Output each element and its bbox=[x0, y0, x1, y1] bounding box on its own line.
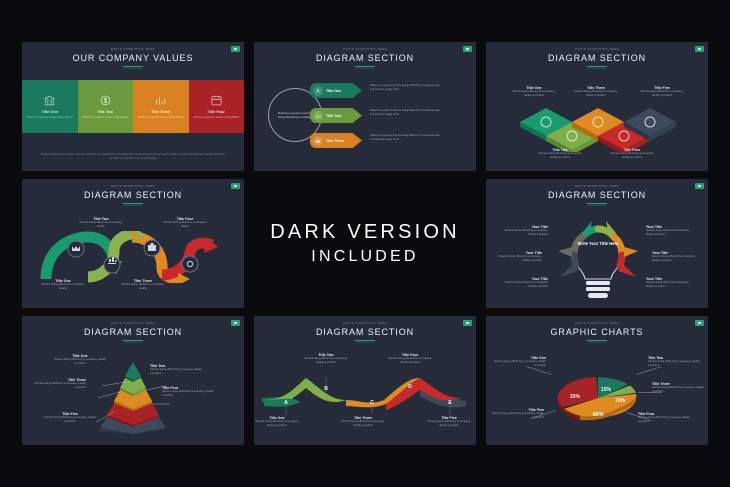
page-title: DIAGRAM SECTION bbox=[22, 328, 244, 337]
slide-kicker: WRITE SOMETHING HERE bbox=[486, 49, 708, 51]
pie-legend-item: Title One Service being offered by a com… bbox=[494, 356, 546, 368]
slide-subkicker: SUBHEADING bbox=[22, 342, 244, 344]
arrow-label: Title One bbox=[326, 89, 341, 93]
caption-line-2: INCLUDED bbox=[311, 248, 418, 266]
slide-subkicker: SUBHEADING bbox=[22, 205, 244, 207]
arrow-shape[interactable]: Title Three bbox=[310, 133, 362, 148]
slide-diagram-puzzle[interactable]: WRITE SOMETHING HERE DIAGRAM SECTION SUB… bbox=[486, 42, 708, 171]
pyramid-label: Title One Service being offered by a com… bbox=[54, 354, 106, 366]
pyramid-label: Title Three Service being offered by a c… bbox=[34, 378, 86, 390]
page-title: OUR COMPANY VALUES bbox=[22, 54, 244, 63]
slide-header: WRITE SOMETHING HERE DIAGRAM SECTION SUB… bbox=[254, 42, 476, 70]
pie-legend-item: Title Five Service being offered by a co… bbox=[492, 408, 544, 420]
scurve-label: Title Three Service being offered by a c… bbox=[120, 279, 166, 291]
pie-legend-item: Title Two Service being offered by a com… bbox=[648, 356, 700, 368]
slide-kicker: WRITE SOMETHING HERE bbox=[22, 323, 244, 325]
slide-header: WRITE SOMETHING HERE DIAGRAM SECTION SUB… bbox=[486, 42, 708, 70]
bulb-branch-label: Your Title Service being offered by a co… bbox=[492, 251, 542, 263]
slide-kicker: WRITE SOMETHING HERE bbox=[486, 323, 708, 325]
slide-diagram-zigzag[interactable]: WRITE SOMETHING HERE DIAGRAM SECTION SUB… bbox=[254, 316, 476, 445]
slide-kicker: WRITE SOMETHING HERE bbox=[22, 186, 244, 188]
slide-graphic-charts[interactable]: WRITE SOMETHING HERE GRAPHIC CHARTS SUBH… bbox=[486, 316, 708, 445]
slide-subkicker: SUBHEADING bbox=[486, 205, 708, 207]
zigzag-marker: A bbox=[284, 400, 288, 406]
slide-subkicker: SUBHEADING bbox=[254, 342, 476, 344]
pie-slice-value: 15% bbox=[615, 398, 626, 404]
concept-circle-text: Refers to a good or service being offere… bbox=[276, 111, 314, 120]
arrow-row[interactable]: Title Two bbox=[310, 107, 362, 124]
crown-icon bbox=[313, 136, 323, 146]
bulb-branch-label: Your Title Service being offered by a co… bbox=[498, 277, 548, 289]
value-card[interactable]: Title Three Refers to a good or service … bbox=[133, 80, 189, 133]
puzzle-label: Title One Service being offered by a com… bbox=[510, 86, 558, 98]
slide-subkicker: SUBHEADING bbox=[22, 68, 244, 70]
value-card-body: Refers to a good or service being offere… bbox=[83, 116, 128, 120]
slide-subkicker: SUBHEADING bbox=[486, 68, 708, 70]
puzzle-graphic bbox=[516, 100, 681, 152]
slide-diagram-scurve[interactable]: WRITE SOMETHING HERE DIAGRAM SECTION SUB… bbox=[22, 179, 244, 308]
slide-diagram-bulb[interactable]: WRITE SOMETHING HERE DIAGRAM SECTION SUB… bbox=[486, 179, 708, 308]
value-card[interactable]: Title One Refers to a good or service be… bbox=[22, 80, 78, 133]
value-card-title: Title Two bbox=[97, 110, 113, 114]
value-card-title: Title Four bbox=[208, 110, 225, 114]
arrow-shape[interactable]: Title One bbox=[310, 83, 362, 98]
slide-header: WRITE SOMETHING HERE DIAGRAM SECTION SUB… bbox=[254, 316, 476, 344]
logo-badge-icon bbox=[695, 46, 704, 52]
scurve-label: Title Two Service being offered by a com… bbox=[78, 217, 124, 229]
logo-badge-icon bbox=[231, 46, 240, 52]
zigzag-graphic: A B C D E bbox=[260, 376, 470, 414]
arrow-description: Refers to a good or service being offere… bbox=[370, 134, 442, 142]
bar-chart-icon bbox=[313, 111, 323, 121]
bulb-center-label: Write Your Title Here bbox=[572, 241, 624, 247]
arrow-row[interactable]: Title Three bbox=[310, 132, 362, 149]
zigzag-label: Title Three Service being offered by a c… bbox=[340, 416, 386, 428]
pie-slice-value: 25% bbox=[570, 394, 581, 400]
scurve-graphic bbox=[40, 231, 228, 283]
calendar-icon bbox=[210, 94, 223, 107]
page-title: DIAGRAM SECTION bbox=[486, 54, 708, 63]
value-card-body: Refers to a good or service being offere… bbox=[27, 116, 72, 120]
footer-note: Product should meet a certain consumer d… bbox=[36, 153, 230, 162]
coin-dollar-icon bbox=[99, 94, 112, 107]
arrow-description: Refers to a good or service being offere… bbox=[370, 84, 442, 92]
slide-header: WRITE SOMETHING HERE OUR COMPANY VALUES … bbox=[22, 42, 244, 70]
value-card-title: Title Three bbox=[151, 110, 170, 114]
puzzle-label: Title Two Service being offered by a com… bbox=[536, 148, 584, 160]
arrow-label: Title Two bbox=[326, 114, 341, 118]
slide-subkicker: SUBHEADING bbox=[254, 68, 476, 70]
logo-badge-icon bbox=[463, 320, 472, 326]
value-card-body: Refers to a good or service being offere… bbox=[194, 116, 239, 120]
zigzag-label: Title Five Service being offered by a co… bbox=[426, 416, 472, 428]
zigzag-marker: C bbox=[370, 400, 374, 406]
logo-badge-icon bbox=[231, 320, 240, 326]
pyramid-label: Title Five Service being offered by a co… bbox=[44, 412, 96, 424]
slide-grid: WRITE SOMETHING HERE OUR COMPANY VALUES … bbox=[0, 0, 730, 487]
value-card-body: Refers to a good or service being offere… bbox=[138, 116, 183, 120]
pyramid-label: Title Four Service being offered by a co… bbox=[162, 386, 214, 398]
bank-icon bbox=[43, 94, 56, 107]
logo-badge-icon bbox=[695, 320, 704, 326]
value-card[interactable]: Title Four Refers to a good or service b… bbox=[189, 80, 245, 133]
bar-chart-icon bbox=[154, 94, 167, 107]
arrow-row[interactable]: Title One bbox=[310, 82, 362, 99]
logo-badge-icon bbox=[695, 183, 704, 189]
value-card-list: Title One Refers to a good or service be… bbox=[22, 80, 244, 133]
caption-line-1: DARK VERSION bbox=[270, 221, 460, 244]
slide-header: WRITE SOMETHING HERE DIAGRAM SECTION SUB… bbox=[486, 179, 708, 207]
people-icon bbox=[313, 86, 323, 96]
caption-block: DARK VERSION INCLUDED bbox=[254, 179, 476, 308]
value-card-title: Title One bbox=[42, 110, 58, 114]
slide-header: WRITE SOMETHING HERE GRAPHIC CHARTS SUBH… bbox=[486, 316, 708, 344]
bulb-branch-label: Your Title Service being offered by a co… bbox=[652, 251, 702, 263]
puzzle-label: Title Three Service being offered by a c… bbox=[572, 86, 620, 98]
arrow-description: Refers to a good or service being offere… bbox=[370, 109, 442, 117]
center-caption-panel: DARK VERSION INCLUDED bbox=[254, 179, 476, 308]
pie-slice-value: 15% bbox=[601, 387, 612, 393]
puzzle-label: Title Five Service being offered by a co… bbox=[638, 86, 686, 98]
pie-slice-value: 45% bbox=[592, 412, 603, 418]
logo-badge-icon bbox=[231, 183, 240, 189]
arrow-label: Title Three bbox=[326, 139, 344, 143]
page-title: DIAGRAM SECTION bbox=[254, 54, 476, 63]
slide-kicker: WRITE SOMETHING HERE bbox=[254, 49, 476, 51]
scurve-label: Title Four Service being offered by a co… bbox=[162, 217, 208, 229]
bulb-branch-label: Your Title Service being offered by a co… bbox=[498, 225, 548, 237]
arrow-shape[interactable]: Title Two bbox=[310, 108, 362, 123]
bulb-branch-label: Your Title Service being offered by a co… bbox=[646, 277, 696, 289]
page-title: GRAPHIC CHARTS bbox=[486, 328, 708, 337]
value-card[interactable]: Title Two Refers to a good or service be… bbox=[78, 80, 134, 133]
slide-header: WRITE SOMETHING HERE DIAGRAM SECTION SUB… bbox=[22, 179, 244, 207]
bulb-branch-label: Your Title Service being offered by a co… bbox=[646, 225, 696, 237]
slide-kicker: WRITE SOMETHING HERE bbox=[22, 49, 244, 51]
pie-legend-item: Title Three Service being offered by a c… bbox=[652, 382, 704, 394]
zigzag-label: Title Two Service being offered by a com… bbox=[303, 353, 349, 365]
puzzle-label: Title Four Service being offered by a co… bbox=[608, 148, 656, 160]
slide-kicker: WRITE SOMETHING HERE bbox=[486, 186, 708, 188]
zigzag-label: Title One Service being offered by a com… bbox=[254, 416, 300, 428]
bulb-graphic bbox=[552, 215, 644, 305]
slide-subkicker: SUBHEADING bbox=[486, 342, 708, 344]
slide-company-values[interactable]: WRITE SOMETHING HERE OUR COMPANY VALUES … bbox=[22, 42, 244, 171]
page-title: DIAGRAM SECTION bbox=[254, 328, 476, 337]
zigzag-label: Title Four Service being offered by a co… bbox=[387, 353, 433, 365]
page-title: DIAGRAM SECTION bbox=[22, 191, 244, 200]
pie-chart-graphic: 15% 15% 45% 25% bbox=[548, 364, 648, 432]
pie-legend-item: Title Four Service being offered by a co… bbox=[638, 412, 690, 424]
slide-diagram-pyramid[interactable]: WRITE SOMETHING HERE DIAGRAM SECTION SUB… bbox=[22, 316, 244, 445]
slide-kicker: WRITE SOMETHING HERE bbox=[254, 323, 476, 325]
slide-header: WRITE SOMETHING HERE DIAGRAM SECTION SUB… bbox=[22, 316, 244, 344]
scurve-label: Title One Service being offered by a com… bbox=[40, 279, 86, 291]
logo-badge-icon bbox=[463, 46, 472, 52]
page-title: DIAGRAM SECTION bbox=[486, 191, 708, 200]
slide-diagram-arrows[interactable]: WRITE SOMETHING HERE DIAGRAM SECTION SUB… bbox=[254, 42, 476, 171]
pyramid-label: Title Two Service being offered by a com… bbox=[150, 364, 202, 376]
